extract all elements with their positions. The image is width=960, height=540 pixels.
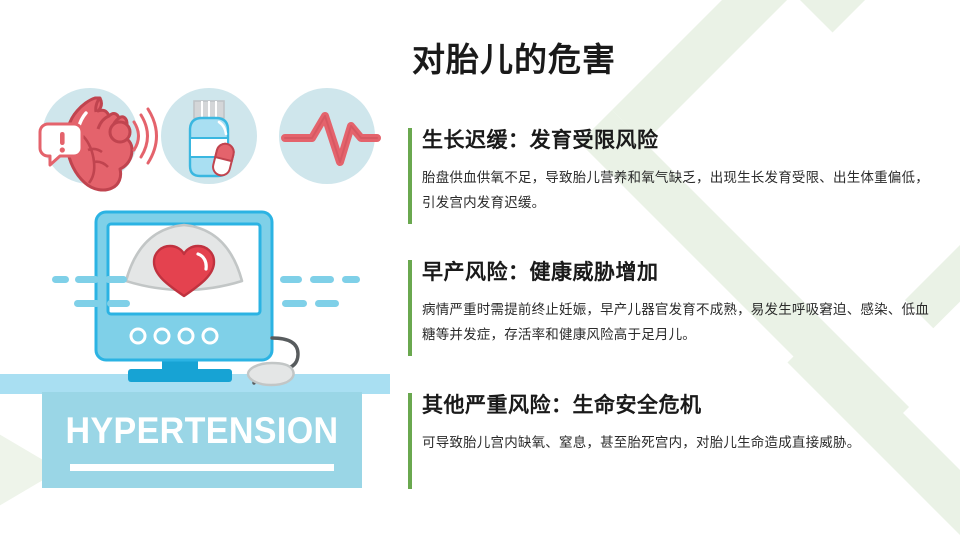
- hypertension-underline: [70, 464, 334, 471]
- risk-heading-1: 生长迟缓：发育受限风险: [422, 126, 940, 156]
- page-title: 对胎儿的危害: [412, 33, 616, 81]
- risk-body-2: 病情严重时需提前终止妊娠，早产儿器官发育不成熟，易发生呼吸窘迫、感染、低血糖等并…: [422, 297, 934, 347]
- motion-dash-left-3: [105, 276, 127, 283]
- motion-dash-right-4: [282, 300, 307, 307]
- accent-bar-1: [408, 128, 412, 224]
- motion-dash-right-3: [342, 276, 360, 283]
- accent-bar-2: [408, 260, 412, 356]
- risk-heading-3: 其他严重风险：生命安全危机: [422, 391, 940, 421]
- risk-body-3: 可导致胎儿宫内缺氧、窒息，甚至胎死宫内，对胎儿生命造成直接威胁。: [422, 430, 934, 455]
- risk-section-1: 生长迟缓：发育受限风险 胎盘供血供氧不足，导致胎儿营养和氧气缺乏，出现生长发育受…: [408, 126, 940, 215]
- risk-section-3: 其他严重风险：生命安全危机 可导致胎儿宫内缺氧、窒息，甚至胎死宫内，对胎儿生命造…: [408, 391, 940, 455]
- risk-section-2: 早产风险：健康威胁增加 病情严重时需提前终止妊娠，早产儿器官发育不成熟，易发生呼…: [408, 258, 940, 347]
- accent-bar-3: [408, 393, 412, 489]
- slide-root: HYPERTENSION 对胎儿的危害 生长迟缓：发育受限风险 胎盘供血供氧不足…: [0, 0, 960, 540]
- medicine-bottle-icon: [190, 101, 235, 177]
- motion-dash-right-5: [315, 300, 339, 307]
- motion-dash-right-1: [280, 276, 302, 283]
- motion-dash-left-4: [74, 300, 100, 307]
- risk-body-1: 胎盘供血供氧不足，导致胎儿营养和氧气缺乏，出现生长发育受限、出生体重偏低，引发宫…: [422, 165, 934, 215]
- content-panel: 对胎儿的危害 生长迟缓：发育受限风险 胎盘供血供氧不足，导致胎儿营养和氧气缺乏，…: [408, 0, 948, 540]
- motion-dash-left-2: [75, 276, 99, 283]
- motion-dash-left-5: [107, 300, 130, 307]
- motion-dash-right-2: [310, 276, 334, 283]
- illustration-panel: HYPERTENSION: [0, 0, 390, 540]
- motion-dash-left-1: [52, 276, 69, 283]
- risk-heading-2: 早产风险：健康威胁增加: [422, 258, 940, 288]
- heart-alert-icon: [40, 98, 157, 190]
- hypertension-label: HYPERTENSION: [55, 410, 349, 452]
- hypertension-band: HYPERTENSION: [42, 392, 362, 488]
- ecg-pulse-icon: [285, 116, 377, 162]
